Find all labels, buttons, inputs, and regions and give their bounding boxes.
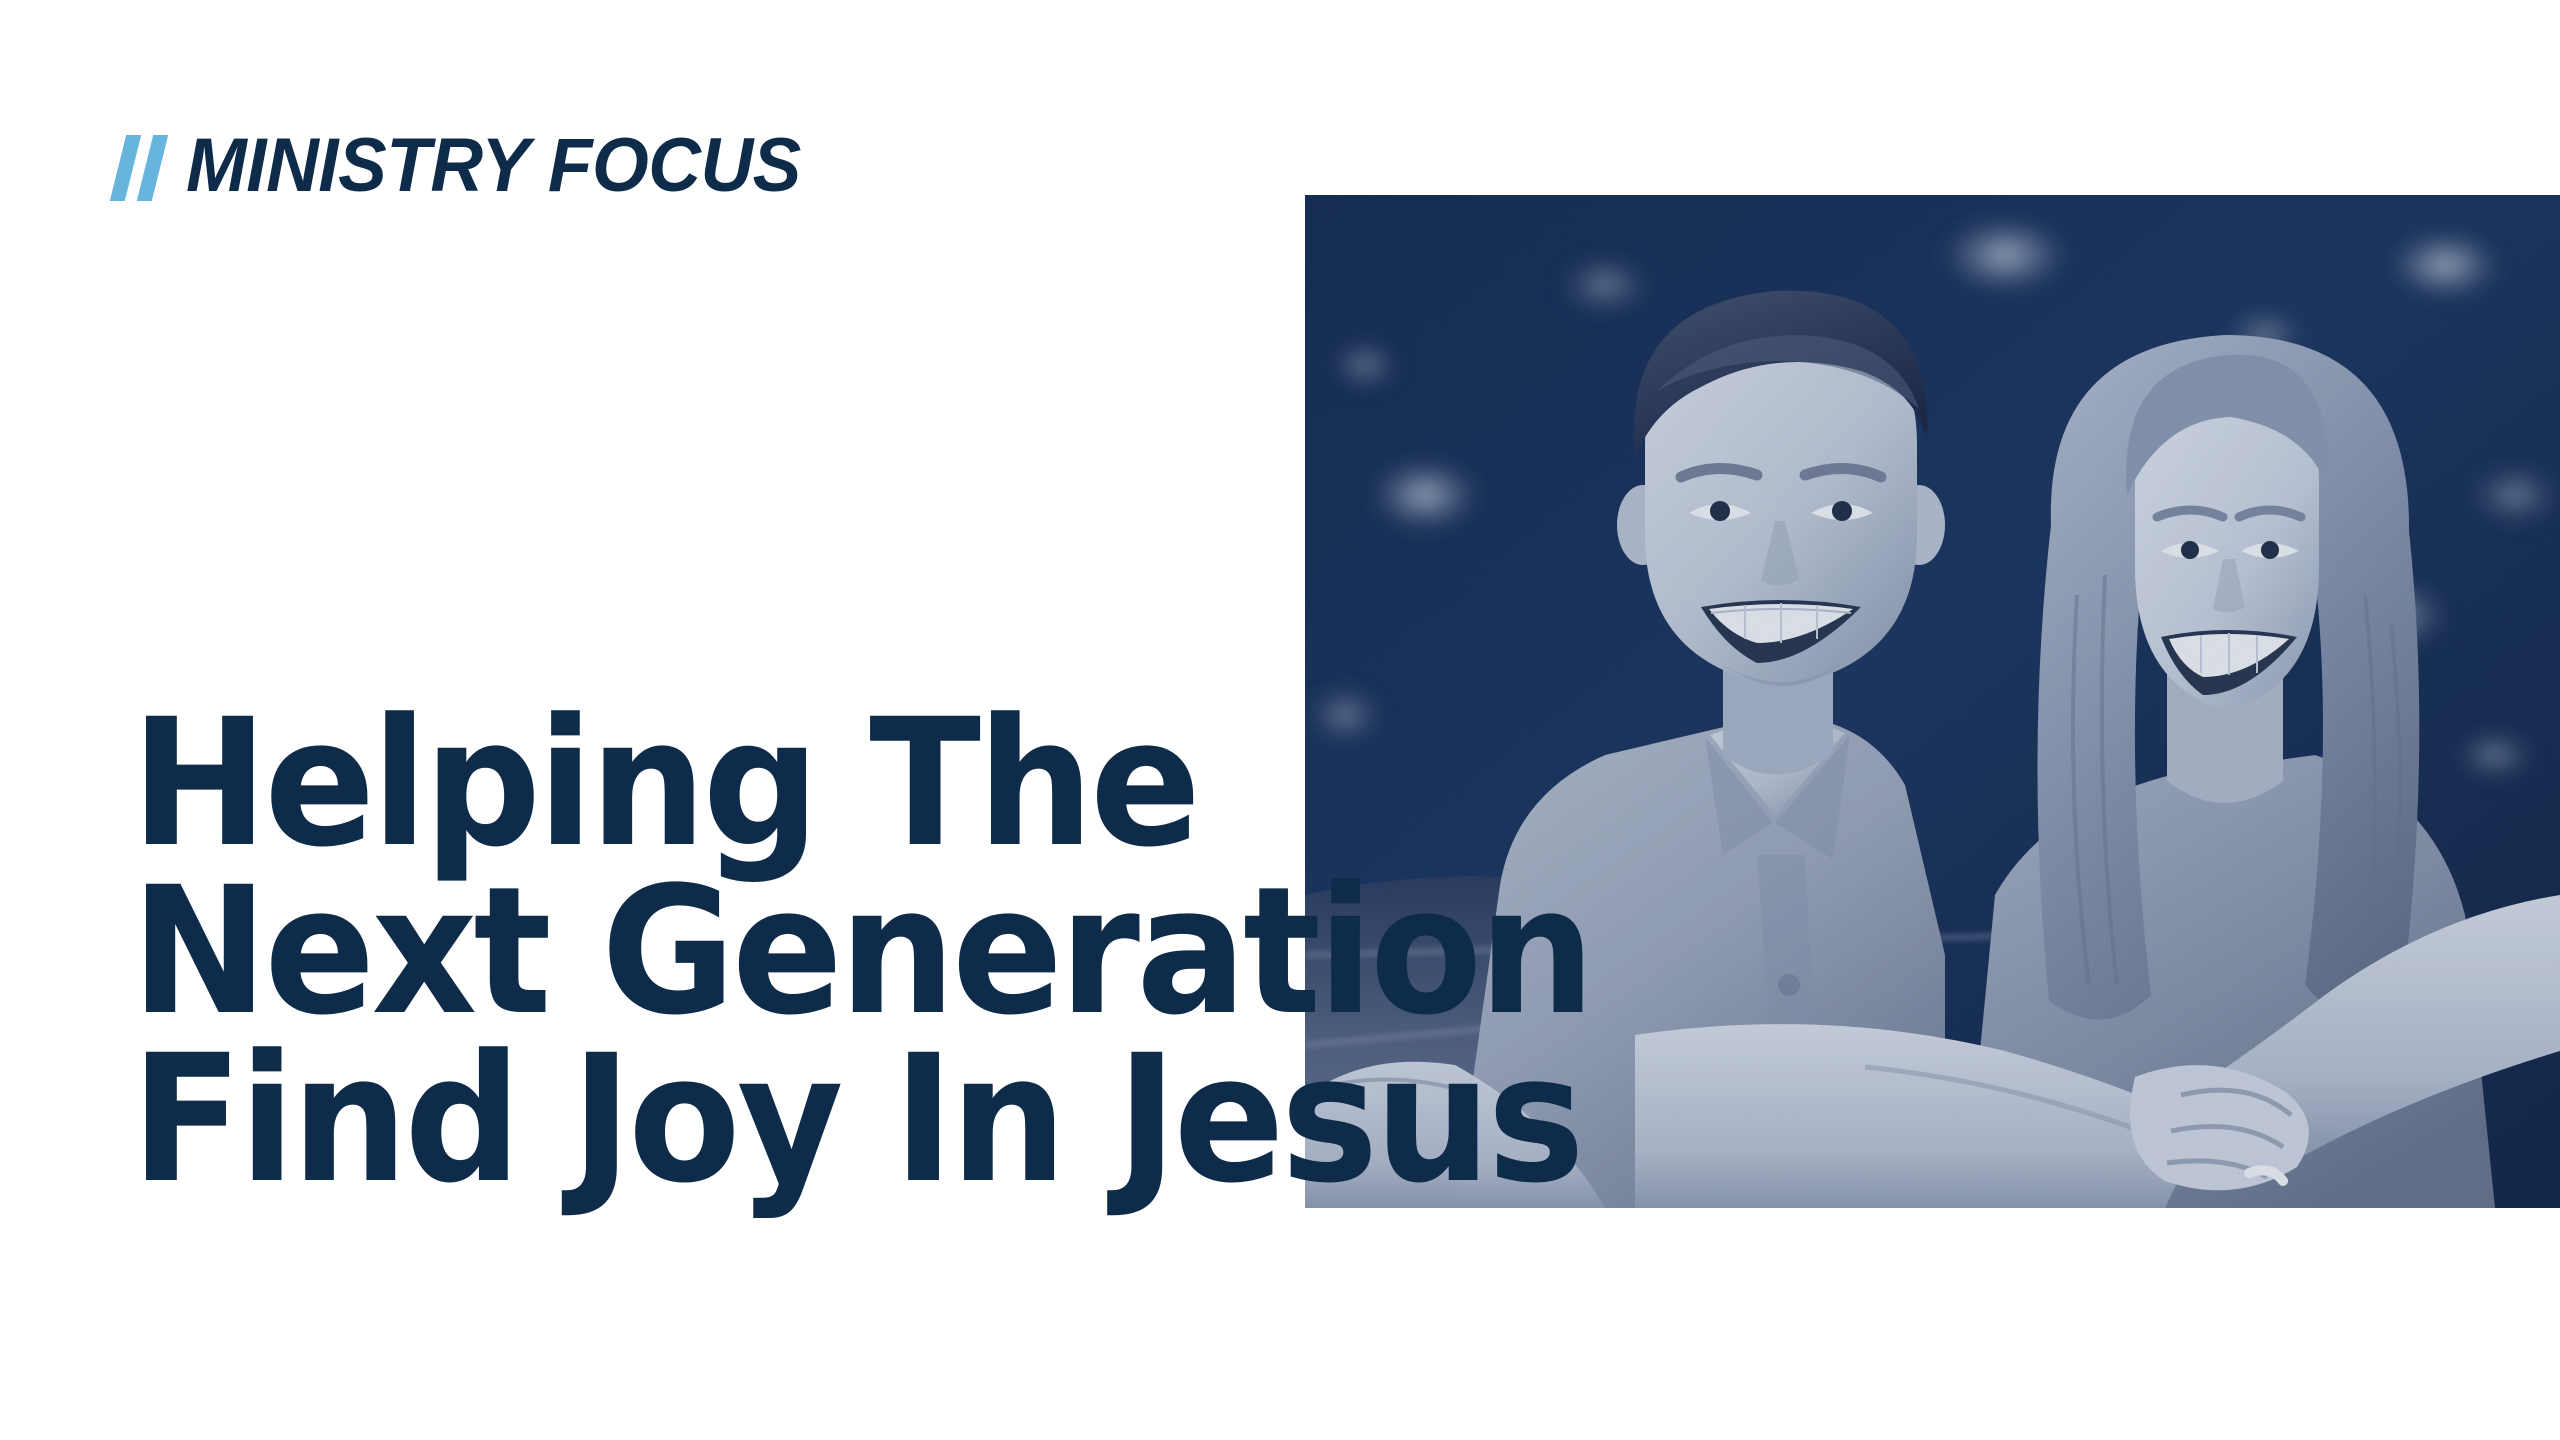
- ministry-focus-slide: MINISTRY FOCUS Helping The Next Generati…: [0, 0, 2560, 1440]
- page-title: Helping The Next Generation Find Joy In …: [131, 700, 1701, 1204]
- headline-line-2: Next Generation: [131, 868, 1591, 1036]
- eyebrow: MINISTRY FOCUS: [118, 128, 826, 204]
- eyebrow-label: MINISTRY FOCUS: [186, 128, 801, 204]
- headline-line-3: Find Joy In Jesus: [131, 1036, 1591, 1204]
- double-slash-icon: [118, 135, 160, 201]
- headline-line-1: Helping The: [131, 700, 1591, 868]
